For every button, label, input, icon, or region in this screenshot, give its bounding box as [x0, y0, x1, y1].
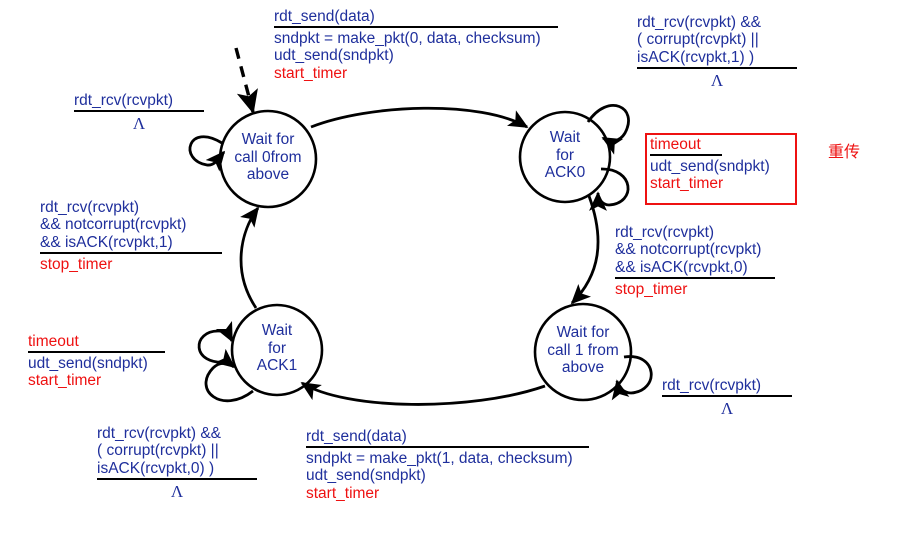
state-line: above: [218, 166, 318, 184]
condition-text: && notcorrupt(rcvpkt): [40, 216, 222, 233]
state-line: above: [531, 359, 635, 377]
action-text: start_timer: [274, 65, 558, 82]
condition-text: rdt_rcv(rcvpkt): [74, 92, 204, 109]
state-label-wait-call1: Wait for call 1 from above: [531, 324, 635, 377]
action-text: Λ: [637, 71, 797, 90]
label-divider: [28, 351, 165, 353]
condition-text: rdt_rcv(rcvpkt): [662, 377, 792, 394]
edge-call1-to-ack1: [302, 383, 545, 404]
label-divider: [662, 395, 792, 397]
state-line: Wait for: [531, 324, 635, 342]
state-line: call 1 from: [531, 342, 635, 360]
condition-text: timeout: [28, 333, 165, 350]
rdt-send-1-label: rdt_send(data) sndpkt = make_pkt(1, data…: [306, 428, 589, 502]
ack1-stop-timer-label: rdt_rcv(rcvpkt) && notcorrupt(rcvpkt) &&…: [40, 199, 222, 273]
action-text: udt_send(sndpkt): [274, 47, 558, 64]
edge-ack1-to-call0: [241, 208, 258, 308]
label-divider: [306, 446, 589, 448]
state-line: for: [232, 340, 322, 358]
state-line: ACK1: [232, 357, 322, 375]
state-label-wait-ack0: Wait for ACK0: [520, 129, 610, 182]
state-line: call 0from: [218, 149, 318, 167]
action-text: sndpkt = make_pkt(0, data, checksum): [274, 30, 558, 47]
action-text: stop_timer: [615, 281, 775, 298]
action-text: sndpkt = make_pkt(1, data, checksum): [306, 450, 589, 467]
rdt-rcv-call0-selfloop-label: rdt_rcv(rcvpkt) Λ: [74, 92, 204, 133]
state-line: Wait for: [218, 131, 318, 149]
action-text: stop_timer: [40, 256, 222, 273]
label-divider: [74, 110, 204, 112]
condition-text: && isACK(rcvpkt,1): [40, 234, 222, 251]
condition-text: && notcorrupt(rcvpkt): [615, 241, 775, 258]
ack0-corrupt-selfloop-label: rdt_rcv(rcvpkt) && ( corrupt(rcvpkt) || …: [637, 14, 797, 90]
edge-call0-to-ack0: [311, 108, 527, 127]
action-text: udt_send(sndpkt): [650, 158, 770, 175]
condition-text: isACK(rcvpkt,0) ): [97, 460, 257, 477]
condition-text: timeout: [650, 136, 770, 153]
label-divider: [615, 277, 775, 279]
label-divider: [637, 67, 797, 69]
state-line: Wait: [232, 322, 322, 340]
state-label-wait-call0: Wait for call 0from above: [218, 131, 318, 184]
condition-text: && isACK(rcvpkt,0): [615, 259, 775, 276]
start-arrow: [236, 48, 253, 112]
action-text: udt_send(sndpkt): [306, 467, 589, 484]
edge-ack0-to-call1: [572, 196, 598, 303]
ack1-corrupt-selfloop-label: rdt_rcv(rcvpkt) && ( corrupt(rcvpkt) || …: [97, 425, 257, 501]
ack0-stop-timer-label: rdt_rcv(rcvpkt) && notcorrupt(rcvpkt) &&…: [615, 224, 775, 298]
selfloop-ack1-left: [199, 331, 232, 362]
condition-text: rdt_rcv(rcvpkt) &&: [97, 425, 257, 442]
label-divider: [650, 154, 722, 156]
label-divider: [274, 26, 558, 28]
condition-text: rdt_send(data): [274, 8, 558, 25]
rdt-send-0-label: rdt_send(data) sndpkt = make_pkt(0, data…: [274, 8, 558, 82]
action-text: start_timer: [650, 175, 770, 192]
condition-text: ( corrupt(rcvpkt) ||: [97, 442, 257, 459]
action-text: Λ: [662, 399, 792, 418]
action-text: Λ: [74, 114, 204, 133]
timeout-retransmit-label: timeout udt_send(sndpkt) start_timer: [650, 136, 770, 193]
rdt-rcv-call1-selfloop-label: rdt_rcv(rcvpkt) Λ: [662, 377, 792, 418]
action-text: start_timer: [306, 485, 589, 502]
state-line: ACK0: [520, 164, 610, 182]
condition-text: isACK(rcvpkt,1) ): [637, 49, 797, 66]
ack1-timeout-label: timeout udt_send(sndpkt) start_timer: [28, 333, 165, 390]
condition-text: rdt_send(data): [306, 428, 589, 445]
action-text: start_timer: [28, 372, 165, 389]
condition-text: ( corrupt(rcvpkt) ||: [637, 31, 797, 48]
label-divider: [97, 478, 257, 480]
state-line: for: [520, 147, 610, 165]
action-text: udt_send(sndpkt): [28, 355, 165, 372]
condition-text: rdt_rcv(rcvpkt): [40, 199, 222, 216]
state-line: Wait: [520, 129, 610, 147]
retransmit-annotation: 重传: [828, 138, 860, 162]
state-label-wait-ack1: Wait for ACK1: [232, 322, 322, 375]
label-divider: [40, 252, 222, 254]
condition-text: rdt_rcv(rcvpkt): [615, 224, 775, 241]
condition-text: rdt_rcv(rcvpkt) &&: [637, 14, 797, 31]
action-text: Λ: [97, 482, 257, 501]
